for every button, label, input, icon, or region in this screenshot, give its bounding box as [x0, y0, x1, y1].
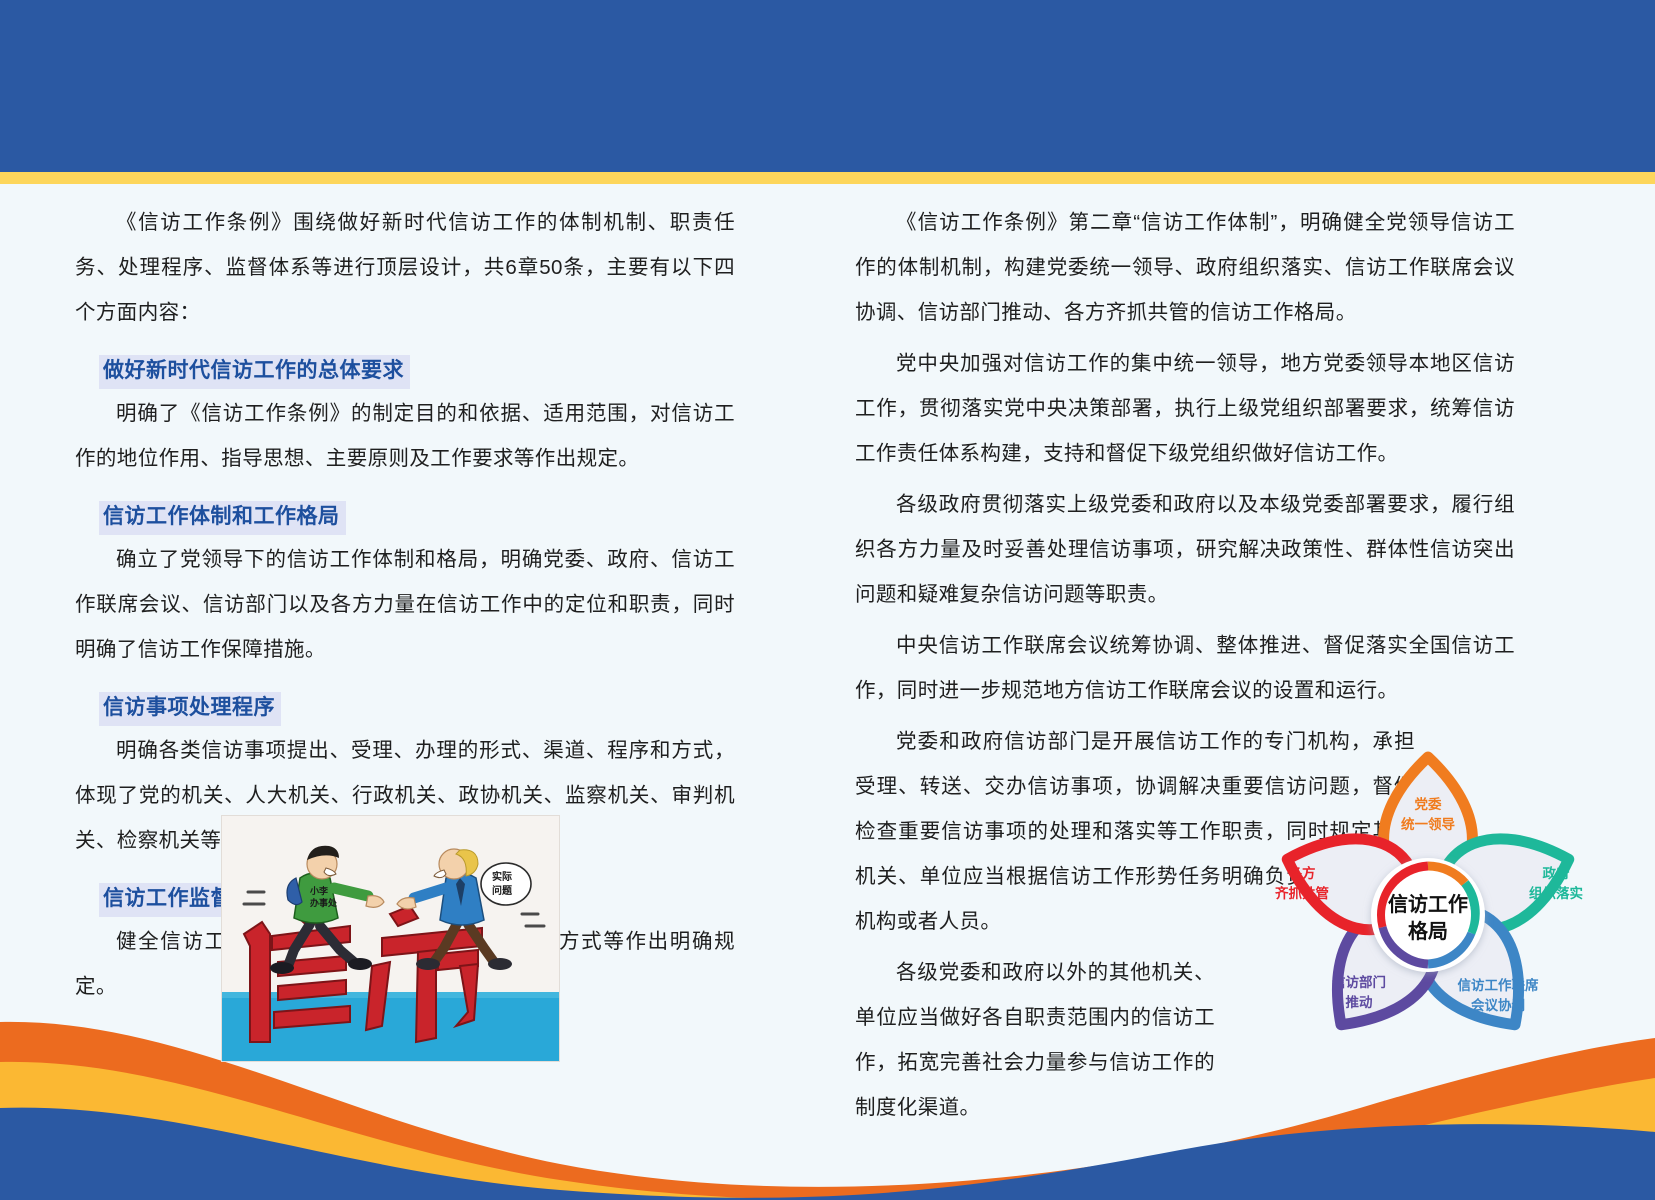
flower-center-hub: 信访工作 格局: [1371, 858, 1485, 972]
petal-label-joint-conference-line2: 会议协调: [1471, 997, 1525, 1014]
petal-label-joint-conference-line1: 信访工作联席: [1458, 977, 1539, 994]
xinfang-cartoon-illustration: 小李 办事处: [221, 815, 560, 1062]
petal-label-government-line2: 组织落实: [1529, 885, 1583, 902]
petal-label-party-committee-line2: 统一领导: [1401, 816, 1455, 833]
svg-text:实际: 实际: [492, 870, 512, 883]
flower-center-line1: 信访工作: [1388, 892, 1468, 916]
right-paragraph-6: 各级党委和政府以外的其他机关、单位应当做好各自职责范围内的信访工作，拓宽完善社会…: [855, 950, 1215, 1130]
petal-label-xinfang-department-line2: 推动: [1346, 994, 1374, 1011]
left-intro-paragraph: 《信访工作条例》围绕做好新时代信访工作的体制机制、职责任务、处理程序、监督体系等…: [75, 200, 735, 335]
poster-page: 《信访工作条例》的主要内容 《信访工作条例》对信访工作体制的规定 《信访工作条例…: [0, 0, 1655, 1200]
section-heading-wrap-1: 信访工作体制和工作格局: [75, 487, 735, 537]
section-heading-wrap-2: 信访事项处理程序: [75, 678, 735, 728]
header-banner: [0, 0, 1655, 172]
section-body-overall-requirements: 明确了《信访工作条例》的制定目的和依据、适用范围，对信访工作的地位作用、指导思想…: [75, 391, 735, 481]
right-paragraph-1: 《信访工作条例》第二章“信访工作体制”，明确健全党领导信访工作的体制机制，构建党…: [855, 200, 1515, 335]
section-heading-handling-procedure: 信访事项处理程序: [99, 692, 281, 726]
svg-text:小李: 小李: [309, 885, 329, 897]
petal-label-government-line1: 政府: [1543, 865, 1571, 882]
right-paragraph-2: 党中央加强对信访工作的集中统一领导，地方党委领导本地区信访工作，贯彻落实党中央决…: [855, 341, 1515, 476]
petal-label-all-parties-line2: 齐抓共管: [1275, 885, 1329, 902]
section-heading-system-and-structure: 信访工作体制和工作格局: [99, 501, 346, 535]
flower-center-line2: 格局: [1408, 919, 1448, 943]
petal-label-party-committee-line1: 党委: [1415, 796, 1443, 813]
right-paragraph-3: 各级政府贯彻落实上级党委和政府以及本级党委部署要求，履行组织各方力量及时妥善处理…: [855, 482, 1515, 617]
right-paragraph-4: 中央信访工作联席会议统筹协调、整体推进、督促落实全国信访工作，同时进一步规范地方…: [855, 623, 1515, 713]
svg-text:问题: 问题: [492, 884, 513, 897]
header-gold-strip: [0, 172, 1655, 184]
section-heading-overall-requirements: 做好新时代信访工作的总体要求: [99, 355, 410, 389]
section-body-system-and-structure: 确立了党领导下的信访工作体制和格局，明确党委、政府、信访工作联席会议、信访部门以…: [75, 537, 735, 672]
xinfang-structure-flower-diagram: 党委 统一领导 政府 组织落实 信访工作联席 会议协调 信访部门 推动 各方: [1228, 735, 1628, 1035]
section-heading-wrap-0: 做好新时代信访工作的总体要求: [75, 341, 735, 391]
petal-label-xinfang-department-line1: 信访部门: [1332, 974, 1386, 991]
petal-label-all-parties-line1: 各方: [1288, 865, 1316, 882]
svg-text:办事处: 办事处: [310, 897, 338, 909]
